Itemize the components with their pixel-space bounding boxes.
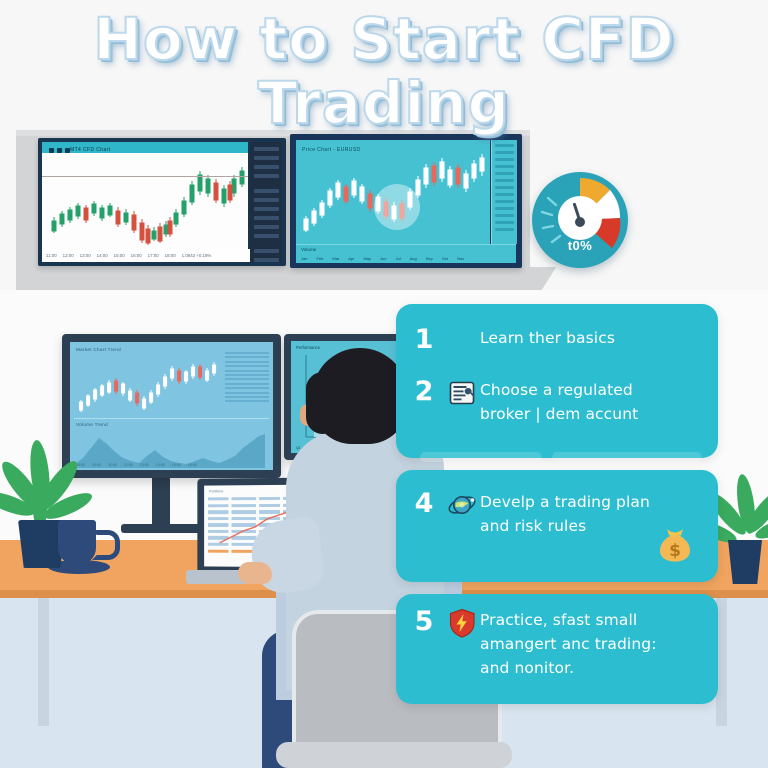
gauge-hub-icon <box>575 217 585 227</box>
axis-tick: 11:00 <box>46 253 57 258</box>
axis-tick: Jul <box>396 256 401 261</box>
page-title: How to Start CFD Trading <box>0 8 768 134</box>
step-text-line: Learn ther basics <box>480 326 615 350</box>
sidebar-row <box>495 151 514 154</box>
chart-focus-highlight <box>374 184 420 230</box>
sidebar-row <box>254 174 279 178</box>
axis-tick: 13:00 <box>80 253 91 258</box>
sidebar-row <box>495 228 514 231</box>
top-screen-2-axis: Jan Feb Mar Apr May Jun Jul Aug Sep Oct … <box>301 256 464 261</box>
office-chair-armrest <box>276 742 512 768</box>
axis-tick: Aug <box>410 256 417 261</box>
infographic-canvas: MT4 CFD Chart <box>0 0 768 768</box>
sidebar-row <box>495 172 514 175</box>
axis-tick: May <box>363 256 371 261</box>
axis-tick: 14:00 <box>156 463 165 467</box>
step-number: 1 <box>404 326 444 354</box>
title-line-1: How to Start CFD <box>0 8 768 70</box>
step-text-line: Develp a trading plan <box>480 490 650 514</box>
shield-bolt-icon <box>444 608 480 638</box>
step-text-line: and nonitor. <box>480 656 657 680</box>
sidebar-row <box>254 258 279 262</box>
steps-panel-1-2: 1 Learn ther basics 2 Choose a regulated <box>396 304 718 458</box>
sidebar-row <box>254 165 279 169</box>
step-number: 5 <box>404 608 444 636</box>
sidebar-row <box>254 216 279 220</box>
axis-tick: 14:00 <box>97 253 108 258</box>
step-item-1[interactable]: 1 Learn ther basics <box>404 326 710 354</box>
sidebar-row <box>254 249 279 253</box>
decor-bar <box>552 452 702 462</box>
candlestick-chart-1 <box>42 153 248 249</box>
sidebar-row <box>495 193 514 196</box>
sidebar-row <box>495 200 514 203</box>
step-number: 4 <box>404 490 444 518</box>
axis-tick: 16:00 <box>188 463 197 467</box>
money-bag-icon: $ <box>652 522 698 568</box>
monitor-1-divider <box>74 418 269 419</box>
monitor-1-candlestick-chart <box>75 354 225 418</box>
sidebar-row <box>495 214 514 217</box>
step-text-line: amangert anc trading: <box>480 632 657 656</box>
axis-tick: Mar <box>332 256 339 261</box>
person-head <box>312 348 408 444</box>
top-screen-2-volume-panel: Volume Jan Feb Mar Apr May Jun Jul Aug S… <box>296 244 516 263</box>
sidebar-row <box>254 156 279 160</box>
sidebar-row <box>495 186 514 189</box>
step-text-line: Choose a regulated <box>480 378 638 402</box>
volume-label: Volume <box>301 247 316 252</box>
svg-text:$: $ <box>669 541 681 561</box>
step-text-block: Practice, sfast small amangert anc tradi… <box>480 608 657 680</box>
price-guideline <box>42 176 248 177</box>
price-readout: 1.0843 +0.18% <box>182 253 212 258</box>
axis-tick: 15:00 <box>172 463 181 467</box>
gauge-value-label: t0% <box>532 238 628 253</box>
axis-tick: 15:00 <box>114 253 125 258</box>
monitor-1-chart-title: Market Chart Trend <box>76 347 121 352</box>
step-text-line: Practice, sfast small <box>480 608 657 632</box>
axis-tick: Nov <box>457 256 464 261</box>
top-screen-1-axis: 11:00 12:00 13:00 14:00 15:00 16:00 17:0… <box>42 249 252 262</box>
step-item-2[interactable]: 2 Choose a regulated broker | dem accunt <box>404 378 710 426</box>
sidebar-row <box>495 144 514 147</box>
top-screen-2-plot: Price Chart - EURUSD <box>296 140 490 244</box>
top-trading-screen-2[interactable]: Price Chart - EURUSD <box>290 134 522 268</box>
sidebar-row <box>495 179 514 182</box>
step-text-line: and risk rules <box>480 514 650 538</box>
sidebar-row <box>254 207 279 211</box>
top-screen-2-title: Price Chart - EURUSD <box>302 147 361 153</box>
axis-tick: 12:00 <box>63 253 74 258</box>
axis-tick: Sep <box>426 256 433 261</box>
sidebar-row <box>495 221 514 224</box>
top-screen-1-titlebar: MT4 CFD Chart <box>42 142 248 153</box>
risk-gauge: t0% <box>532 172 628 268</box>
axis-tick: Apr <box>348 256 354 261</box>
title-line-2: Trading <box>0 72 768 134</box>
top-screen-1-sidebar[interactable] <box>250 142 282 262</box>
decor-bar <box>420 452 542 462</box>
clipboard-wrench-icon <box>444 378 480 408</box>
mug-handle <box>92 530 120 560</box>
sidebar-row <box>495 165 514 168</box>
sidebar-row <box>495 207 514 210</box>
axis-tick: Jun <box>380 256 386 261</box>
axis-tick: 17:00 <box>148 253 159 258</box>
sidebar-row <box>254 147 279 151</box>
step-item-5[interactable]: 5 Practice, sfast small amangert anc tra… <box>404 608 710 680</box>
step-text-block: Learn ther basics <box>480 326 615 350</box>
axis-tick: 18:00 <box>165 253 176 258</box>
sidebar-row <box>254 225 279 229</box>
top-screen-2-sidebar[interactable] <box>491 140 517 244</box>
axis-tick: 12:00 <box>124 463 133 467</box>
top-screen-1-plot <box>42 153 248 249</box>
axis-tick: 16:00 <box>131 253 142 258</box>
step-text-block: Develp a trading plan and risk rules <box>480 490 650 538</box>
top-trading-screen-1[interactable]: MT4 CFD Chart <box>38 138 286 266</box>
sidebar-row <box>254 198 279 202</box>
sidebar-row <box>495 158 514 161</box>
axis-tick: Oct <box>442 256 448 261</box>
step-number: 2 <box>404 378 444 406</box>
sidebar-row <box>254 234 279 238</box>
monitor-1-order-book <box>225 352 269 414</box>
globe-ring-icon <box>444 490 480 520</box>
axis-tick: Feb <box>316 256 323 261</box>
desk-leg-left <box>38 598 49 726</box>
axis-tick: Jan <box>301 256 307 261</box>
sidebar-row <box>254 189 279 193</box>
plant-right-pot <box>728 540 762 584</box>
step-text-block: Choose a regulated broker | dem accunt <box>480 378 638 426</box>
coffee-mug <box>58 520 96 564</box>
step-text-line: broker | dem accunt <box>480 402 638 426</box>
steps-panel-5: 5 Practice, sfast small amangert anc tra… <box>396 594 718 704</box>
monitor-2-chart-title: Performance <box>296 345 320 350</box>
monitor-1-base <box>121 524 201 533</box>
monitor-1-stand <box>152 478 170 526</box>
person-hand <box>238 562 272 584</box>
monitor-1-sub-title: Volume Trend <box>76 422 108 427</box>
axis-tick: 13:00 <box>140 463 149 467</box>
